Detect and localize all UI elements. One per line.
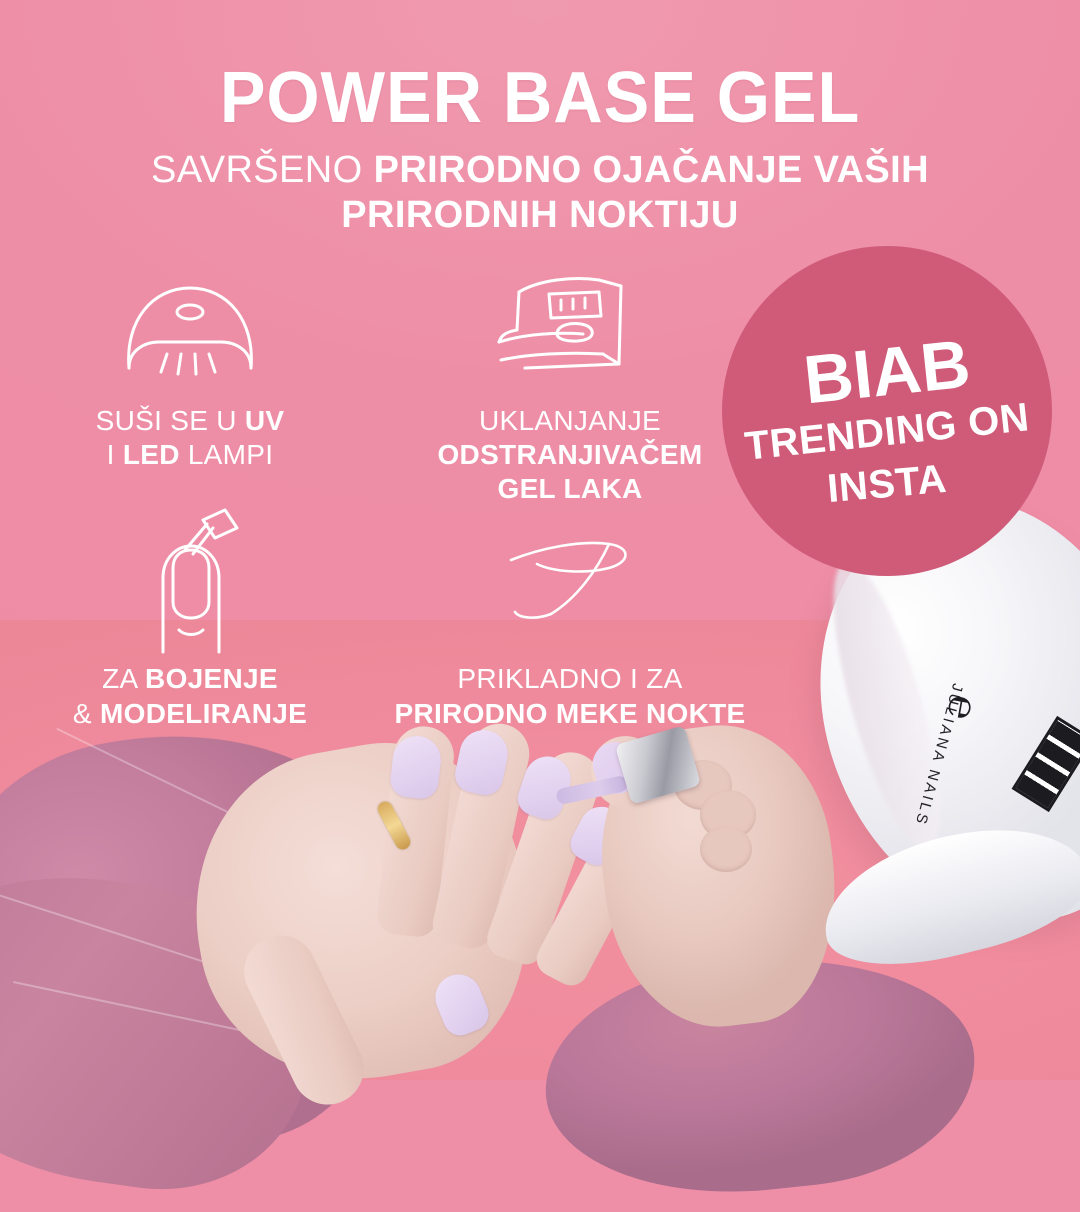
label-light: LAMPI bbox=[180, 439, 274, 470]
label-light: ZA bbox=[102, 663, 145, 694]
feature-label-line-1: SUŠI SE U UV bbox=[0, 404, 380, 438]
label-bold: UV bbox=[245, 405, 285, 436]
label-light: & bbox=[73, 698, 100, 729]
marketing-overlay: POWER BASE GEL SAVRŠENO PRIRODNO OJAČANJ… bbox=[0, 0, 1080, 1080]
feature-gel-remover: UKLANJANJE ODSTRANJIVAČEM GEL LAKA bbox=[380, 266, 760, 506]
status-badge: BIAB TRENDING ON INSTA bbox=[722, 246, 1052, 576]
feature-label-line-1: PRIKLADNO I ZA bbox=[380, 662, 760, 696]
subtitle: SAVRŠENO PRIRODNO OJAČANJE VAŠIH PRIRODN… bbox=[0, 148, 1080, 238]
subtitle-line-1: SAVRŠENO PRIRODNO OJAČANJE VAŠIH bbox=[0, 148, 1080, 193]
gel-remover-hand-icon bbox=[380, 266, 760, 398]
soft-natural-nail-icon bbox=[380, 506, 760, 656]
nail-brush-finger-icon bbox=[0, 506, 380, 656]
subtitle-line-2: PRIRODNIH NOKTIJU bbox=[0, 193, 1080, 238]
feature-label: PRIKLADNO I ZA PRIRODNO MEKE NOKTE bbox=[380, 662, 760, 730]
feature-label-line-1: UKLANJANJE bbox=[380, 404, 760, 438]
subtitle-light-part: SAVRŠENO bbox=[151, 149, 363, 191]
feature-label: SUŠI SE U UV I LED LAMPI bbox=[0, 404, 380, 472]
feature-label-line-2: ODSTRANJIVAČEM bbox=[380, 438, 760, 472]
subtitle-bold-part: PRIRODNO OJAČANJE VAŠIH bbox=[374, 149, 929, 191]
uv-led-lamp-icon bbox=[0, 266, 380, 398]
feature-soft-nails: PRIKLADNO I ZA PRIRODNO MEKE NOKTE bbox=[380, 506, 760, 730]
feature-label-line-2: & MODELIRANJE bbox=[0, 697, 380, 731]
label-bold: BOJENJE bbox=[145, 663, 278, 694]
feature-row-2: ZA BOJENJE & MODELIRANJE PRIKLADN bbox=[0, 506, 760, 730]
feature-uv-led: SUŠI SE U UV I LED LAMPI bbox=[0, 266, 380, 506]
label-light: SUŠI SE U bbox=[96, 405, 245, 436]
feature-label: ZA BOJENJE & MODELIRANJE bbox=[0, 662, 380, 730]
feature-label-line-2: PRIRODNO MEKE NOKTE bbox=[380, 697, 760, 731]
feature-grid: SUŠI SE U UV I LED LAMPI bbox=[0, 266, 760, 731]
label-bold: MODELIRANJE bbox=[100, 698, 307, 729]
feature-label-line-1: ZA BOJENJE bbox=[0, 662, 380, 696]
feature-label-line-2: I LED LAMPI bbox=[0, 438, 380, 472]
label-light: I bbox=[107, 439, 123, 470]
feature-label-line-3: GEL LAKA bbox=[380, 472, 760, 506]
feature-row-1: SUŠI SE U UV I LED LAMPI bbox=[0, 266, 760, 506]
page-title: POWER BASE GEL bbox=[27, 62, 1053, 134]
feature-label: UKLANJANJE ODSTRANJIVAČEM GEL LAKA bbox=[380, 404, 760, 506]
label-bold: LED bbox=[123, 439, 180, 470]
feature-painting-modeling: ZA BOJENJE & MODELIRANJE bbox=[0, 506, 380, 730]
